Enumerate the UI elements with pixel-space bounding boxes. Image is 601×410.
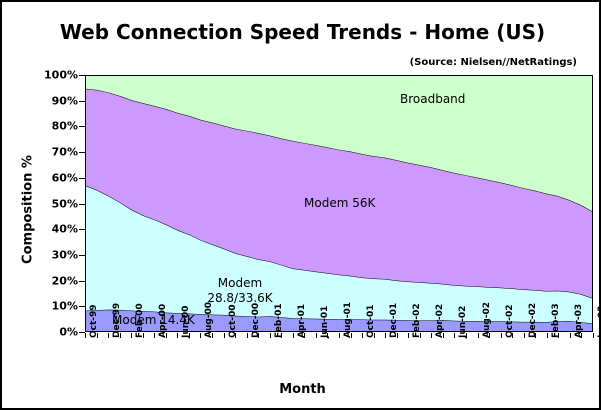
x-axis-label: Feb-01 xyxy=(274,303,284,338)
series-label-modem-144k: Modem 14.4K xyxy=(112,313,195,327)
chart-source-note: (Source: Nielsen//NetRatings) xyxy=(410,57,577,68)
y-axis-label: 50% xyxy=(18,197,78,210)
chart-title: Web Connection Speed Trends - Home (US) xyxy=(2,20,601,44)
x-axis-tick xyxy=(339,333,340,338)
y-axis-label: 0% xyxy=(18,326,78,339)
x-axis-label: Oct-02 xyxy=(505,304,515,338)
x-axis-label: Jun-02 xyxy=(458,306,468,338)
x-axis-tick xyxy=(547,333,548,338)
y-axis-label: 60% xyxy=(18,171,78,184)
x-axis-label: Dec-01 xyxy=(389,303,399,338)
x-axis-label: Aug-00 xyxy=(204,302,214,338)
series-label-line-2: 28.8/33.6K xyxy=(192,291,288,306)
x-axis-label: Apr-02 xyxy=(435,304,445,338)
x-axis-tick xyxy=(570,333,571,338)
y-axis-label: 20% xyxy=(18,274,78,287)
y-axis-label: 90% xyxy=(18,94,78,107)
x-axis-tick xyxy=(362,333,363,338)
x-axis-tick xyxy=(85,333,86,338)
x-axis-tick xyxy=(385,333,386,338)
x-axis-tick xyxy=(316,333,317,338)
x-axis-tick xyxy=(177,333,178,338)
series-label-broadband: Broadband xyxy=(400,92,465,106)
y-axis-label: 100% xyxy=(18,69,78,82)
x-axis-tick xyxy=(478,333,479,338)
x-axis-label: Feb-03 xyxy=(551,303,561,338)
x-axis-tick xyxy=(247,333,248,338)
x-axis-tick xyxy=(131,333,132,338)
x-axis-tick xyxy=(408,333,409,338)
x-axis-tick xyxy=(270,333,271,338)
x-axis-tick xyxy=(431,333,432,338)
x-axis-tick xyxy=(224,333,225,338)
x-axis-label: Oct-00 xyxy=(228,304,238,338)
x-axis-label: Jun-01 xyxy=(320,306,330,338)
x-axis-label: Dec-00 xyxy=(251,303,261,338)
x-axis-label: Jun-03 xyxy=(597,306,601,338)
x-axis-label: Apr-03 xyxy=(574,304,584,338)
x-axis-label: Aug-02 xyxy=(482,302,492,338)
x-axis-label: Apr-01 xyxy=(297,304,307,338)
x-axis-tick xyxy=(293,333,294,338)
x-axis-label: Dec-02 xyxy=(528,303,538,338)
x-axis-label: Feb-02 xyxy=(412,303,422,338)
x-axis-label: Oct-01 xyxy=(366,304,376,338)
x-axis-title: Month xyxy=(2,382,601,397)
y-axis-label: 80% xyxy=(18,120,78,133)
chart-frame: Web Connection Speed Trends - Home (US) … xyxy=(0,0,601,410)
x-axis-tick xyxy=(154,333,155,338)
y-axis-label: 10% xyxy=(18,300,78,313)
x-axis-tick xyxy=(454,333,455,338)
x-axis-tick xyxy=(524,333,525,338)
y-axis-label: 70% xyxy=(18,146,78,159)
series-label-line-1: Modem xyxy=(192,276,288,291)
series-label-modem-288-336k: Modem28.8/33.6K xyxy=(192,276,288,306)
x-axis-tick xyxy=(501,333,502,338)
y-axis-label: 40% xyxy=(18,223,78,236)
x-axis-tick xyxy=(108,333,109,338)
x-axis-tick xyxy=(593,333,594,338)
series-label-modem-56k: Modem 56K xyxy=(304,196,375,210)
x-axis-label: Aug-01 xyxy=(343,302,353,338)
x-axis-label: Oct-99 xyxy=(89,304,99,338)
x-axis-tick xyxy=(200,333,201,338)
y-axis-label: 30% xyxy=(18,248,78,261)
